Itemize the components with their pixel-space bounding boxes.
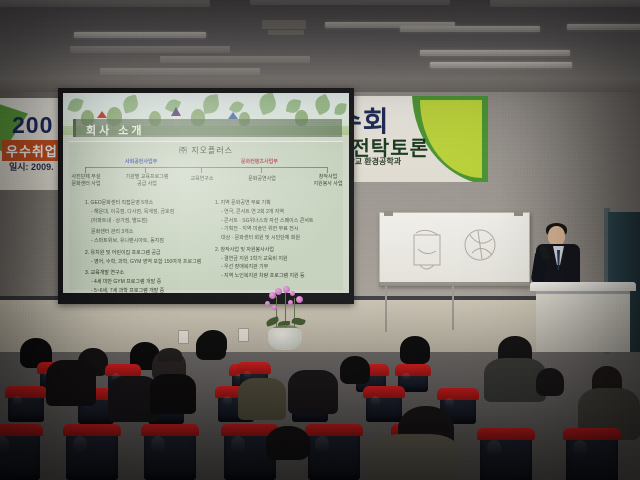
slide-bullet: - 스마트위브, 유니랜시아트, 동지점 bbox=[91, 238, 213, 246]
seat bbox=[8, 392, 44, 422]
ceiling-vent bbox=[262, 20, 306, 29]
org-group-left-label: 사회공헌사업부 bbox=[125, 158, 157, 165]
slide-bullet: 문화센터 관리 3개소 bbox=[91, 229, 213, 237]
org-node: 기관별 교육프로그램공급 사업 bbox=[117, 174, 177, 188]
slide-bullet: 2. 유치원 및 어린이집 프로그램 공급 bbox=[85, 250, 213, 258]
slide-org-chart: 사회공헌사업부 문화컨텐츠사업부 사진단체 부설문화센터 사업 기관별 교육프로… bbox=[73, 158, 339, 196]
audience-member bbox=[158, 348, 182, 362]
org-node: 창작사업지원봉사 사업 bbox=[303, 174, 349, 188]
audience-member bbox=[536, 368, 564, 396]
whiteboard-leg bbox=[385, 286, 387, 332]
roof-icon bbox=[97, 111, 107, 118]
whiteboard bbox=[379, 212, 530, 286]
banner-chip-label: 우수취업 bbox=[2, 140, 62, 161]
orchid-bloom bbox=[272, 305, 277, 310]
seat bbox=[66, 430, 118, 480]
speaker-head bbox=[548, 226, 565, 246]
ceiling-light bbox=[400, 26, 540, 32]
projection-screen-frame: 회사 소개 ㈜ 지오플러스 사회공헌사업부 문화컨텐츠사업부 사진단체 부설문화… bbox=[58, 88, 354, 304]
roof-icon bbox=[171, 107, 181, 116]
banner-date: 일시: 2009. bbox=[9, 160, 54, 173]
audience-member bbox=[370, 434, 460, 480]
slide-body: ㈜ 지오플러스 사회공헌사업부 문화컨텐츠사업부 사진단체 부설문화센터 사업 … bbox=[69, 141, 343, 290]
slide-bullet: - 기획전 · 지역 미술인 위한 무료 전시 bbox=[221, 226, 341, 234]
slide-bullet: - 콘서트 · SG위너스와 자선 스페이스 콘서트 bbox=[221, 218, 341, 226]
ceiling-light bbox=[567, 24, 640, 30]
audience-member bbox=[400, 336, 430, 364]
slide-bullet: (아파트내 · 상가점, 별도점) bbox=[91, 218, 213, 226]
slide-right-column: 1. 지역 문화공연 무료 기획 - 연극, 콘서트 연 2회 2개 지역 - … bbox=[215, 200, 341, 282]
slide-bullet: - 4세 미만 GYM 프로그램 개발 중 bbox=[91, 279, 213, 287]
audience-member bbox=[266, 426, 310, 460]
slide-bullet: 1. 지역 문화공연 무료 기획 bbox=[215, 200, 341, 208]
slide-bullet: - 영어, 수학, 과학, GYM 영역 포함 150여개 프로그램 bbox=[91, 259, 213, 267]
slide-title-bar: 회사 소개 bbox=[73, 119, 342, 137]
photo-scene: 200 우수취업 일시: 2009. 수회 공전탁토론 대학교 환경공학과 bbox=[0, 0, 640, 480]
org-node: 문화공연사업 bbox=[237, 176, 287, 183]
slide-bullet: - 결연금 지원 1학기 교육비 지원 bbox=[221, 256, 341, 264]
whiteboard-tray bbox=[379, 282, 530, 287]
orchid-bloom bbox=[288, 300, 293, 305]
slide-bullet: 3. 교육개발 연구소 bbox=[85, 270, 213, 278]
slide-bullet: - 연극, 콘서트 연 2회 2개 지역 bbox=[221, 209, 341, 217]
seat bbox=[0, 430, 40, 480]
audience-member bbox=[46, 360, 96, 406]
whiteboard-sketch-icon bbox=[414, 230, 495, 269]
ceiling bbox=[0, 0, 640, 96]
banner-swoosh-accent-icon bbox=[420, 100, 482, 178]
slide-title: 회사 소개 bbox=[86, 122, 145, 138]
audience-member bbox=[150, 374, 196, 414]
orchid-bloom bbox=[275, 288, 282, 295]
slide-company-name: ㈜ 지오플러스 bbox=[69, 145, 343, 156]
slide-bullet: 대상 · 문화센터 회원 및 시민단체 회원 bbox=[221, 235, 341, 243]
seat bbox=[566, 434, 618, 480]
slide-bullet: 2. 창작사업 및 자원봉사사업 bbox=[215, 247, 341, 255]
audience-member bbox=[238, 378, 286, 420]
seat bbox=[480, 434, 532, 480]
slide-bullet: - 5~6세, 7세 과학 프로그램 개발 중 bbox=[91, 288, 213, 293]
ceiling-light bbox=[420, 50, 570, 56]
slide-bullet: - 해운대, 이곡점, 다사점, 목계점, 금호점 bbox=[91, 209, 213, 217]
orchid-bloom bbox=[296, 296, 303, 303]
whiteboard-leg bbox=[452, 286, 454, 330]
banner-year: 200 bbox=[12, 112, 53, 139]
ceiling-vent bbox=[268, 30, 304, 35]
seat bbox=[144, 430, 196, 480]
org-group-right-label: 문화컨텐츠사업부 bbox=[241, 158, 278, 165]
seat bbox=[308, 430, 360, 480]
slide-bullet: 1. GEO문화센터 직접운영 5개소 bbox=[85, 200, 213, 208]
slide-bullet: - 지역 노인복지관 차량 프로그램 지원 등 bbox=[221, 273, 341, 281]
slide-bullet: - 우선 장애복지관 기부 bbox=[221, 264, 341, 272]
ceiling-light bbox=[74, 32, 206, 38]
orchid-bloom bbox=[290, 291, 295, 296]
projected-slide: 회사 소개 ㈜ 지오플러스 사회공헌사업부 문화컨텐츠사업부 사진단체 부설문화… bbox=[63, 93, 349, 293]
orchid-bloom bbox=[283, 286, 290, 293]
audience-member bbox=[199, 330, 227, 354]
auditorium-seating bbox=[0, 330, 640, 480]
audience-member bbox=[288, 370, 338, 414]
lectern-top bbox=[530, 282, 636, 291]
orchid-bloom bbox=[265, 301, 270, 306]
seat bbox=[366, 392, 402, 422]
ceiling-light bbox=[430, 62, 572, 68]
audience-member bbox=[340, 356, 370, 384]
org-node: 교육연구소 bbox=[181, 176, 223, 183]
roof-icon bbox=[228, 112, 238, 119]
org-node: 사진단체 부설문화센터 사업 bbox=[63, 174, 113, 188]
slide-left-column: 1. GEO문화센터 직접운영 5개소 - 해운대, 이곡점, 다사점, 목계점… bbox=[85, 200, 213, 293]
